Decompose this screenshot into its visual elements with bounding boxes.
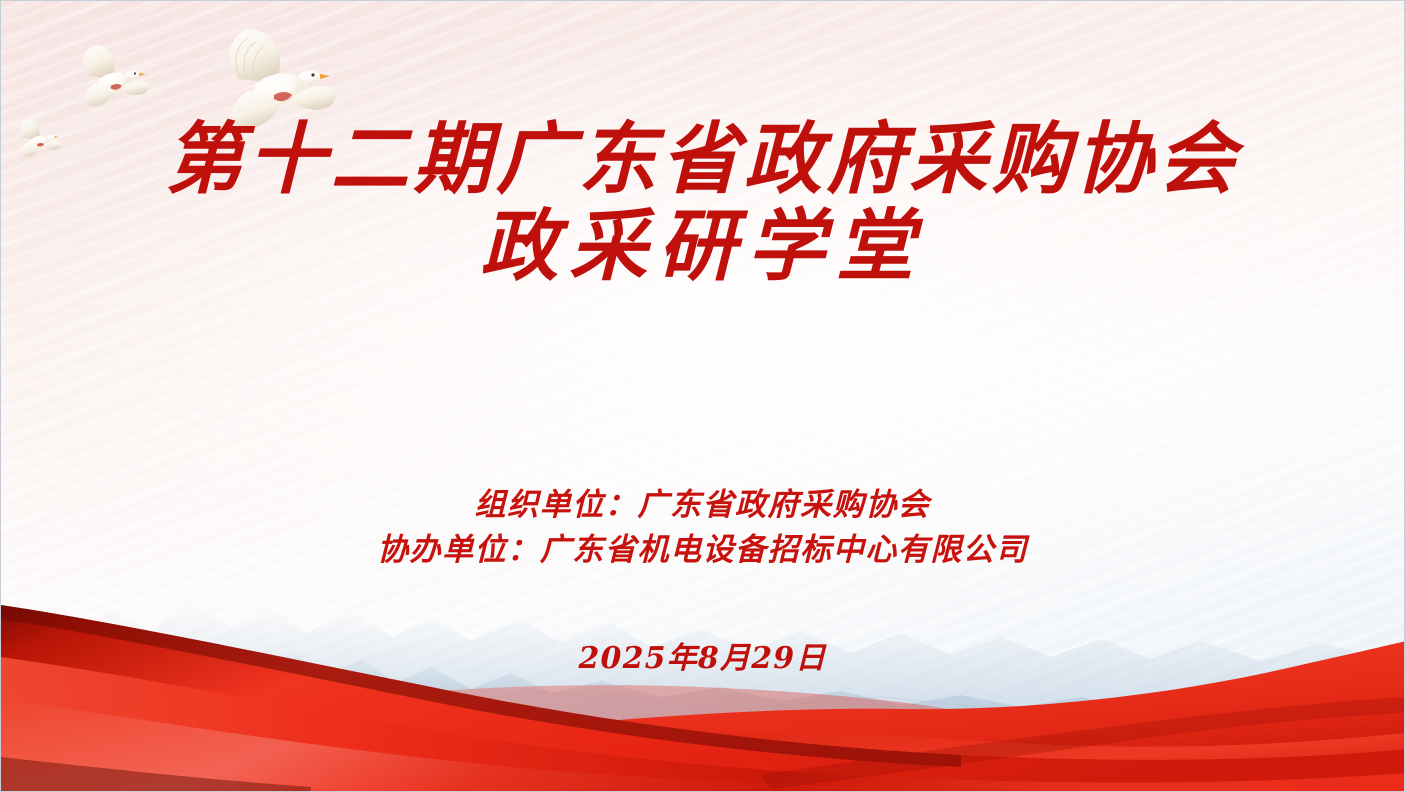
organizer-line-host: 组织单位：广东省政府采购协会 — [1, 483, 1404, 528]
dove-medium-icon — [83, 45, 149, 107]
slide-title: 第十二期广东省政府采购协会 政采研学堂 — [1, 119, 1404, 287]
organizer-block: 组织单位：广东省政府采购协会 协办单位：广东省机电设备招标中心有限公司 — [1, 483, 1404, 573]
title-line-2: 政采研学堂 — [1, 206, 1404, 287]
ribbon-wave-decoration — [1, 561, 1405, 791]
title-line-1: 第十二期广东省政府采购协会 — [1, 119, 1404, 200]
title-slide: 第十二期广东省政府采购协会 政采研学堂 组织单位：广东省政府采购协会 协办单位：… — [0, 0, 1405, 792]
